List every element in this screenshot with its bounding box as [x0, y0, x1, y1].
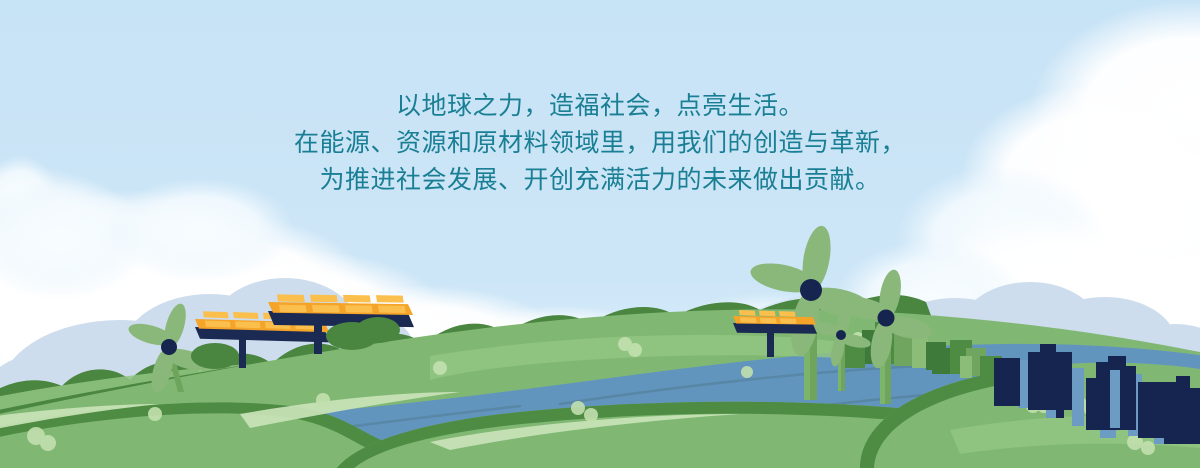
landscape-illustration	[0, 0, 1200, 468]
eco-banner: 以地球之力，造福社会，点亮生活。 在能源、资源和原材料领域里，用我们的创造与革新…	[0, 0, 1200, 468]
